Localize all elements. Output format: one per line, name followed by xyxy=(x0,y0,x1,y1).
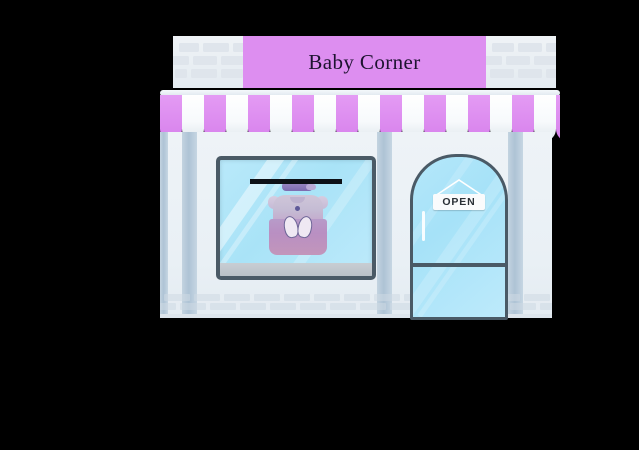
pillar-3 xyxy=(508,132,523,318)
display-window[interactable] xyxy=(216,156,376,280)
bow-loop-right xyxy=(296,215,314,239)
open-sign-hanger: OPEN xyxy=(429,177,489,217)
headband-knot xyxy=(306,184,316,190)
brick-panel-left xyxy=(173,36,243,88)
shop-name-text: Baby Corner xyxy=(308,50,420,75)
pillar-1 xyxy=(182,132,197,318)
storefront-scene: Baby Corner xyxy=(0,0,639,450)
dress-button xyxy=(295,206,300,211)
door-handle[interactable] xyxy=(422,211,425,241)
open-sign[interactable]: OPEN xyxy=(433,194,485,210)
open-sign-text: OPEN xyxy=(442,196,475,208)
signboard: Baby Corner xyxy=(173,36,556,88)
brick-panel-right xyxy=(486,36,556,88)
door-threshold xyxy=(250,179,342,184)
dress-bow xyxy=(284,216,312,238)
building-facade: OPEN xyxy=(160,132,552,318)
window-shelf xyxy=(220,263,372,276)
door-divider xyxy=(413,263,505,267)
product-baby-dress[interactable] xyxy=(268,182,328,256)
entrance-door[interactable]: OPEN xyxy=(410,154,508,320)
pillar-2 xyxy=(377,132,392,318)
pillar-edge-left xyxy=(160,132,168,318)
shop-name-plate: Baby Corner xyxy=(243,36,486,88)
